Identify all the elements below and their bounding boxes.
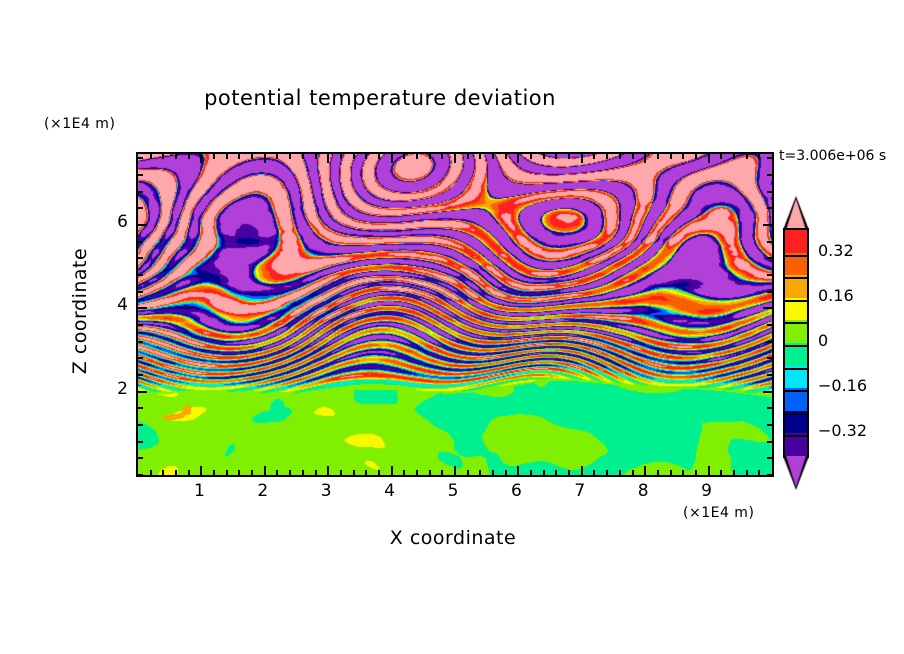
y-axis-tick — [767, 241, 772, 243]
y-axis-tick — [767, 457, 772, 459]
y-axis-tick — [138, 474, 143, 476]
y-axis-tick — [138, 374, 143, 376]
x-axis-tick — [581, 466, 583, 475]
y-tick-label: 6 — [88, 212, 128, 232]
x-axis-tick — [505, 154, 507, 159]
y-axis-tick — [767, 257, 772, 259]
colorbar-band-separator — [785, 300, 807, 302]
x-axis-tick — [619, 154, 621, 159]
x-axis-tick — [657, 154, 659, 159]
x-axis-tick — [733, 154, 735, 159]
colorbar-band-separator — [785, 368, 807, 370]
x-axis-tick — [441, 470, 443, 475]
x-axis-tick — [657, 470, 659, 475]
colorbar-tick-label: 0 — [818, 331, 828, 350]
y-axis-tick — [138, 441, 143, 443]
x-axis-tick — [378, 154, 380, 159]
y-axis-tick — [767, 424, 772, 426]
x-axis-tick — [695, 154, 697, 159]
x-axis-tick — [213, 154, 215, 159]
x-axis-tick — [530, 470, 532, 475]
colorbar-band-separator — [785, 322, 807, 324]
x-axis-tick — [454, 154, 456, 163]
x-axis-tick — [429, 470, 431, 475]
x-axis-tick — [188, 154, 190, 159]
x-axis-tick — [264, 466, 266, 475]
x-axis-tick — [670, 154, 672, 159]
y-axis-tick — [138, 307, 147, 309]
x-axis-tick — [682, 154, 684, 159]
x-axis-tick — [746, 154, 748, 159]
y-axis-tick — [138, 424, 143, 426]
x-axis-tick — [289, 470, 291, 475]
x-axis-tick — [162, 470, 164, 475]
colorbar-cap-top — [783, 196, 809, 230]
y-axis-tick — [138, 224, 147, 226]
x-axis-tick — [315, 470, 317, 475]
x-axis-tick — [302, 154, 304, 159]
y-axis-tick — [767, 291, 772, 293]
x-axis-tick — [454, 466, 456, 475]
colorbar-band-separator — [785, 345, 807, 347]
x-axis-tick — [606, 154, 608, 159]
y-tick-label: 4 — [88, 295, 128, 315]
x-axis-tick — [302, 470, 304, 475]
x-axis-tick — [340, 470, 342, 475]
x-axis-tick — [479, 154, 481, 159]
x-axis-title: X coordinate — [136, 527, 770, 549]
x-axis-tick — [150, 154, 152, 159]
x-axis-tick — [213, 470, 215, 475]
x-axis-tick — [555, 470, 557, 475]
y-axis-tick — [767, 341, 772, 343]
x-axis-tick — [353, 470, 355, 475]
x-axis-tick — [758, 470, 760, 475]
x-axis-tick — [429, 154, 431, 159]
y-axis-tick — [138, 207, 143, 209]
x-axis-tick — [606, 470, 608, 475]
x-axis-tick — [200, 466, 202, 475]
x-axis-tick — [517, 466, 519, 475]
x-axis-tick — [353, 154, 355, 159]
x-axis-tick — [264, 154, 266, 163]
colorbar-band — [785, 230, 807, 253]
x-axis-tick — [720, 470, 722, 475]
y-axis-tick — [138, 407, 143, 409]
x-axis-tick — [708, 154, 710, 163]
x-axis-tick — [708, 466, 710, 475]
x-axis-tick — [276, 470, 278, 475]
x-axis-tick — [391, 466, 393, 475]
x-tick-label: 2 — [243, 481, 283, 501]
x-tick-label: 4 — [370, 481, 410, 501]
y-axis-tick — [767, 157, 772, 159]
x-axis-tick — [530, 154, 532, 159]
x-axis-tick — [378, 470, 380, 475]
x-axis-tick — [543, 154, 545, 159]
x-axis-tick — [720, 154, 722, 159]
x-axis-tick — [441, 154, 443, 159]
x-axis-unit-label: (×1E4 m) — [683, 505, 754, 521]
x-axis-tick — [200, 154, 202, 163]
y-axis-tick — [767, 191, 772, 193]
x-axis-tick — [150, 470, 152, 475]
y-axis-tick — [138, 174, 143, 176]
y-axis-tick — [767, 324, 772, 326]
x-axis-tick — [327, 154, 329, 163]
x-axis-tick — [467, 154, 469, 159]
field-canvas — [138, 154, 772, 475]
y-axis-tick — [138, 191, 143, 193]
x-axis-tick — [365, 154, 367, 159]
x-axis-tick — [758, 154, 760, 159]
x-tick-label: 9 — [687, 481, 727, 501]
y-axis-tick — [138, 357, 143, 359]
x-axis-tick — [467, 470, 469, 475]
x-axis-tick — [632, 154, 634, 159]
colorbar-band-separator — [785, 413, 807, 415]
x-axis-tick — [593, 154, 595, 159]
y-axis-tick — [138, 257, 143, 259]
x-axis-tick — [327, 466, 329, 475]
colorbar-band-separator — [785, 255, 807, 257]
x-axis-tick — [162, 154, 164, 159]
x-tick-label: 8 — [623, 481, 663, 501]
colorbar-tick-label: 0.32 — [818, 241, 854, 260]
x-axis-tick — [276, 154, 278, 159]
y-axis-tick — [138, 457, 143, 459]
x-axis-tick — [251, 154, 253, 159]
x-axis-tick — [492, 154, 494, 159]
x-axis-tick — [517, 154, 519, 163]
x-axis-tick — [403, 470, 405, 475]
x-axis-tick — [581, 154, 583, 163]
x-axis-tick — [479, 470, 481, 475]
x-axis-tick — [175, 154, 177, 159]
y-axis-tick — [138, 157, 143, 159]
x-axis-tick — [593, 470, 595, 475]
y-axis-unit-label: (×1E4 m) — [44, 116, 115, 132]
x-axis-tick — [568, 470, 570, 475]
x-axis-tick — [733, 470, 735, 475]
y-axis-tick — [767, 441, 772, 443]
y-axis-tick — [138, 241, 143, 243]
x-axis-tick — [670, 470, 672, 475]
y-axis-tick — [763, 391, 772, 393]
y-axis-tick — [767, 357, 772, 359]
y-axis-tick — [138, 391, 147, 393]
x-axis-tick — [289, 154, 291, 159]
y-axis-tick — [767, 474, 772, 476]
x-axis-tick — [391, 154, 393, 163]
y-axis-tick — [763, 224, 772, 226]
x-axis-tick — [251, 470, 253, 475]
x-axis-tick — [315, 154, 317, 159]
x-axis-tick — [365, 470, 367, 475]
x-tick-label: 3 — [306, 481, 346, 501]
x-axis-tick — [403, 154, 405, 159]
y-axis-tick — [767, 174, 772, 176]
x-axis-tick — [543, 470, 545, 475]
x-tick-label: 1 — [179, 481, 219, 501]
x-axis-tick — [175, 470, 177, 475]
x-axis-tick — [226, 470, 228, 475]
x-axis-tick — [226, 154, 228, 159]
y-axis-tick — [767, 407, 772, 409]
colorbar-tick-label: −0.32 — [818, 421, 867, 440]
x-axis-tick — [746, 470, 748, 475]
x-axis-tick — [682, 470, 684, 475]
colorbar-cap-bottom — [783, 456, 809, 490]
x-axis-tick — [505, 470, 507, 475]
colorbar-band-separator — [785, 277, 807, 279]
x-axis-tick — [340, 154, 342, 159]
y-axis-tick — [763, 307, 772, 309]
page-title: potential temperature deviation — [0, 86, 760, 110]
x-axis-tick — [644, 466, 646, 475]
x-tick-label: 5 — [433, 481, 473, 501]
y-axis-tick — [767, 374, 772, 376]
y-axis-tick — [138, 341, 143, 343]
x-tick-label: 6 — [496, 481, 536, 501]
x-axis-tick — [695, 470, 697, 475]
x-axis-tick — [416, 470, 418, 475]
x-axis-tick — [644, 154, 646, 163]
x-axis-tick — [619, 470, 621, 475]
time-annotation: t=3.006e+06 s — [779, 148, 886, 164]
y-axis-tick — [138, 291, 143, 293]
x-axis-tick — [188, 470, 190, 475]
y-tick-label: 2 — [88, 379, 128, 399]
x-axis-tick — [492, 470, 494, 475]
y-axis-tick — [138, 274, 143, 276]
x-axis-tick — [238, 154, 240, 159]
colorbar-band-separator — [785, 435, 807, 437]
y-axis-tick — [767, 274, 772, 276]
x-axis-tick — [555, 154, 557, 159]
x-axis-tick — [416, 154, 418, 159]
y-axis-tick — [138, 324, 143, 326]
contour-plot-area — [136, 152, 774, 477]
colorbar-body — [783, 228, 809, 458]
x-tick-label: 7 — [560, 481, 600, 501]
x-axis-tick — [632, 470, 634, 475]
colorbar-band-separator — [785, 390, 807, 392]
colorbar-tick-label: 0.16 — [818, 286, 854, 305]
x-axis-tick — [568, 154, 570, 159]
y-axis-tick — [767, 207, 772, 209]
colorbar-tick-label: −0.16 — [818, 376, 867, 395]
x-axis-tick — [238, 470, 240, 475]
